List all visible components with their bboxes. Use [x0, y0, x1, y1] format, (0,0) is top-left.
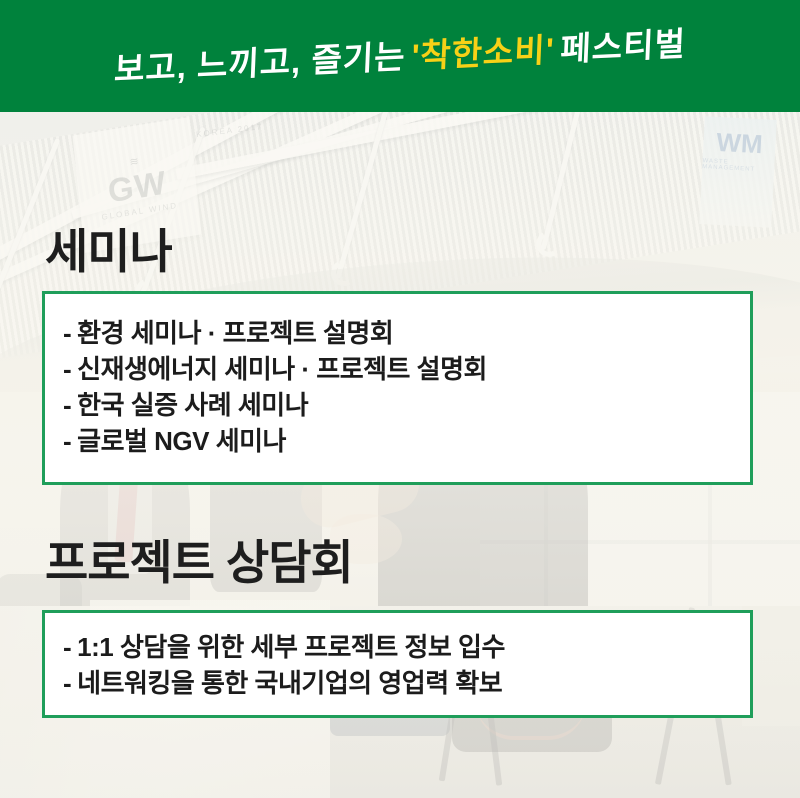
section-heading-seminar: 세미나: [45, 228, 172, 275]
festival-title-lead: 보고, 느끼고, 즐기는: [114, 39, 407, 85]
list-item-text: 네트워킹을 통한 국내기업의 영업력 확보: [77, 668, 502, 698]
content-area: 세미나 -환경 세미나 · 프로젝트 설명회 -신재생에너지 세미나 · 프로젝…: [0, 112, 800, 798]
bullet-dash: -: [63, 318, 71, 348]
bullet-dash: -: [63, 390, 71, 420]
promotional-poster: ≋ GW GLOBAL WIND KOREA 2017 WM WASTE MAN…: [0, 0, 800, 798]
list-item: -신재생에너지 세미나 · 프로젝트 설명회: [63, 352, 750, 388]
festival-title-accent: '착한소비': [411, 32, 555, 72]
list-item-text: 글로벌 NGV 세미나: [77, 426, 286, 456]
list-item: -네트워킹을 통한 국내기업의 영업력 확보: [63, 666, 750, 702]
list-item-text: 한국 실증 사례 세미나: [77, 390, 308, 420]
bullet-dash: -: [63, 668, 71, 698]
list-item: -환경 세미나 · 프로젝트 설명회: [63, 316, 750, 352]
bullet-dash: -: [63, 354, 71, 384]
list-item: -1:1 상담을 위한 세부 프로젝트 정보 입수: [63, 630, 750, 666]
list-item-text: 환경 세미나 · 프로젝트 설명회: [77, 318, 393, 348]
seminar-list: -환경 세미나 · 프로젝트 설명회 -신재생에너지 세미나 · 프로젝트 설명…: [45, 294, 750, 460]
section-heading-consultation: 프로젝트 상담회: [45, 539, 353, 586]
festival-title: 보고, 느끼고, 즐기는 '착한소비' 페스티벌: [114, 26, 687, 85]
bullet-dash: -: [63, 426, 71, 456]
seminar-info-box: -환경 세미나 · 프로젝트 설명회 -신재생에너지 세미나 · 프로젝트 설명…: [42, 291, 753, 485]
bullet-dash: -: [63, 632, 71, 662]
list-item: -한국 실증 사례 세미나: [63, 388, 750, 424]
list-item-text: 신재생에너지 세미나 · 프로젝트 설명회: [77, 354, 487, 384]
list-item: -글로벌 NGV 세미나: [63, 424, 750, 460]
consultation-info-box: -1:1 상담을 위한 세부 프로젝트 정보 입수 -네트워킹을 통한 국내기업…: [42, 610, 753, 718]
list-item-text: 1:1 상담을 위한 세부 프로젝트 정보 입수: [77, 632, 505, 662]
consultation-list: -1:1 상담을 위한 세부 프로젝트 정보 입수 -네트워킹을 통한 국내기업…: [45, 613, 750, 702]
festival-title-tail: 페스티벌: [560, 26, 687, 65]
header-band: 보고, 느끼고, 즐기는 '착한소비' 페스티벌: [0, 0, 800, 112]
